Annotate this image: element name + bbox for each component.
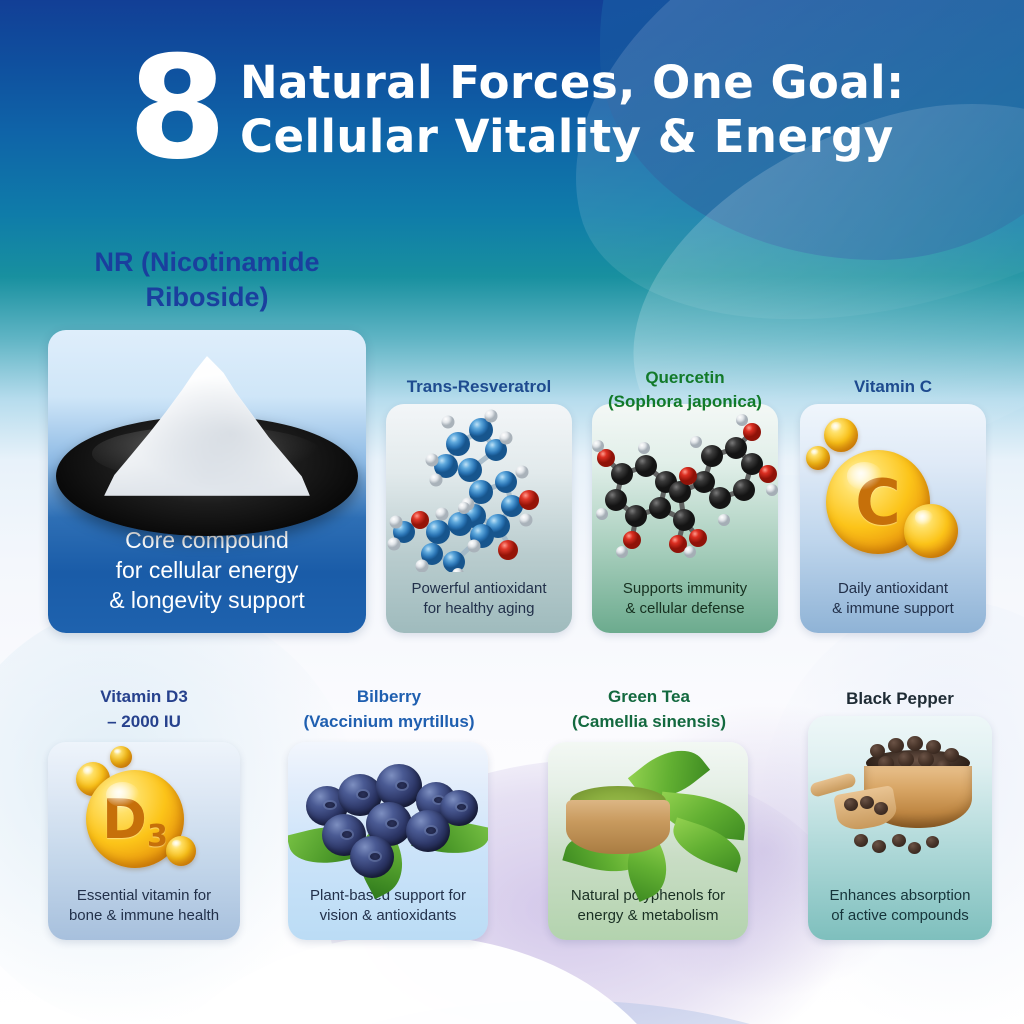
green-tea-image-area: [548, 742, 748, 886]
card-caption-resveratrol: Powerful antioxidant for healthy aging: [386, 579, 572, 633]
card-caption-nr-line-3: & longevity support: [58, 585, 356, 615]
card-caption-quercetin: Supports immunity & cellular defense: [592, 579, 778, 633]
headline-number: 8: [128, 38, 225, 180]
ingredient-card-vitamin-d3[interactable]: D3 Essential vitamin for bone & immune h…: [48, 742, 240, 940]
ingredient-card-nr[interactable]: Core compound for cellular energy & long…: [48, 330, 366, 633]
ingredient-card-vitamin-c[interactable]: C Daily antioxidant & immune support: [800, 404, 986, 633]
molecule-resveratrol-icon: [386, 404, 572, 572]
card-title-bilberry: Bilberry (Vaccinium myrtillus): [278, 684, 500, 734]
page-title: Natural Forces, One Goal: Cellular Vital…: [240, 56, 940, 164]
page-header: 8 Natural Forces, One Goal: Cellular Vit…: [0, 0, 1024, 200]
ingredient-card-quercetin[interactable]: Supports immunity & cellular defense: [592, 404, 778, 633]
ingredient-card-black-pepper[interactable]: Enhances absorption of active compounds: [808, 716, 992, 940]
peppercorn-icon: [918, 752, 934, 767]
vitamin-c-bubble-small-top: [824, 418, 858, 452]
peppercorn-icon: [844, 798, 858, 811]
vitamin-c-image-area: C: [800, 404, 986, 579]
card-caption-vitamin-c-line-1: Daily antioxidant: [810, 579, 976, 599]
nr-image-area: [48, 330, 366, 525]
black-pepper-image-area: [808, 716, 992, 886]
peppercorn-icon: [892, 834, 906, 847]
card-title-quercetin-line-1: Quercetin: [586, 366, 784, 390]
card-title-vitamin-c: Vitamin C: [800, 377, 986, 397]
peppercorn-icon: [854, 834, 868, 847]
vitamin-d3-bubble-top: [110, 746, 132, 768]
ingredient-card-green-tea[interactable]: Natural polyphenols for energy & metabol…: [548, 742, 748, 940]
card-caption-black-pepper-line-2: of active compounds: [818, 906, 982, 926]
card-title-vitamin-d3-line-1: Vitamin D3: [42, 684, 246, 709]
vitamin-d3-letter: D: [102, 788, 147, 851]
card-caption-resveratrol-line-1: Powerful antioxidant: [396, 579, 562, 599]
berry-icon: [350, 836, 394, 878]
wooden-scoop-bowl-icon: [833, 785, 899, 833]
card-caption-vitamin-c: Daily antioxidant & immune support: [800, 579, 986, 633]
card-caption-bilberry-line-2: vision & antioxidants: [298, 906, 478, 926]
card-caption-quercetin-line-2: & cellular defense: [602, 599, 768, 619]
molecule-quercetin-icon: [592, 404, 778, 572]
page-title-line-1: Natural Forces, One Goal:: [240, 56, 940, 110]
card-caption-vitamin-c-line-2: & immune support: [810, 599, 976, 619]
resveratrol-image-area: [386, 404, 572, 579]
card-title-quercetin-line-2: (Sophora japonica): [586, 390, 784, 414]
card-title-quercetin: Quercetin (Sophora japonica): [586, 366, 784, 414]
peppercorn-icon: [860, 796, 874, 809]
berry-icon: [406, 810, 450, 852]
card-caption-black-pepper: Enhances absorption of active compounds: [808, 886, 992, 940]
card-caption-vitamin-d3-line-2: bone & immune health: [58, 906, 230, 926]
card-caption-green-tea-line-2: energy & metabolism: [558, 906, 738, 926]
card-title-green-tea-line-1: Green Tea: [540, 684, 758, 709]
ingredient-card-resveratrol[interactable]: Powerful antioxidant for healthy aging: [386, 404, 572, 633]
card-caption-nr-line-2: for cellular energy: [58, 555, 356, 585]
card-caption-quercetin-line-1: Supports immunity: [602, 579, 768, 599]
card-title-bilberry-line-1: Bilberry: [278, 684, 500, 709]
card-title-green-tea-line-2: (Camellia sinensis): [540, 709, 758, 734]
ingredient-card-bilberry[interactable]: Plant-based support for vision & antioxi…: [288, 742, 488, 940]
card-title-green-tea: Green Tea (Camellia sinensis): [540, 684, 758, 734]
card-caption-vitamin-d3: Essential vitamin for bone & immune heal…: [48, 886, 240, 940]
peppercorn-icon: [926, 836, 939, 848]
peppercorn-icon: [872, 840, 886, 853]
card-title-nr-line-2: Riboside): [48, 280, 366, 315]
card-title-nr-line-1: NR (Nicotinamide: [48, 245, 366, 280]
card-title-black-pepper: Black Pepper: [808, 689, 992, 709]
card-title-vitamin-d3-line-2: – 2000 IU: [42, 709, 246, 734]
bilberry-image-area: [288, 742, 488, 886]
card-caption-black-pepper-line-1: Enhances absorption: [818, 886, 982, 906]
vitamin-c-bubble-bottom-right: [904, 504, 958, 558]
card-title-bilberry-line-2: (Vaccinium myrtillus): [278, 709, 500, 734]
peppercorn-icon: [898, 752, 914, 767]
peppercorn-icon: [907, 736, 923, 751]
card-caption-bilberry: Plant-based support for vision & antioxi…: [288, 886, 488, 940]
card-caption-vitamin-d3-line-1: Essential vitamin for: [58, 886, 230, 906]
peppercorn-icon: [874, 802, 888, 815]
vitamin-d3-bubble-right: [166, 836, 196, 866]
card-title-vitamin-d3: Vitamin D3 – 2000 IU: [42, 684, 246, 734]
peppercorn-icon: [908, 842, 921, 854]
card-title-resveratrol: Trans-Resveratrol: [386, 377, 572, 397]
wooden-bowl-icon: [566, 800, 670, 854]
quercetin-image-area: [592, 404, 778, 579]
vitamin-d3-subscript: 3: [147, 819, 168, 854]
card-caption-nr: Core compound for cellular energy & long…: [48, 525, 366, 633]
peppercorn-icon: [888, 738, 904, 753]
card-title-nr: NR (Nicotinamide Riboside): [48, 245, 366, 315]
card-caption-resveratrol-line-2: for healthy aging: [396, 599, 562, 619]
vitamin-d3-image-area: D3: [48, 742, 240, 886]
page-title-line-2: Cellular Vitality & Energy: [240, 110, 940, 164]
